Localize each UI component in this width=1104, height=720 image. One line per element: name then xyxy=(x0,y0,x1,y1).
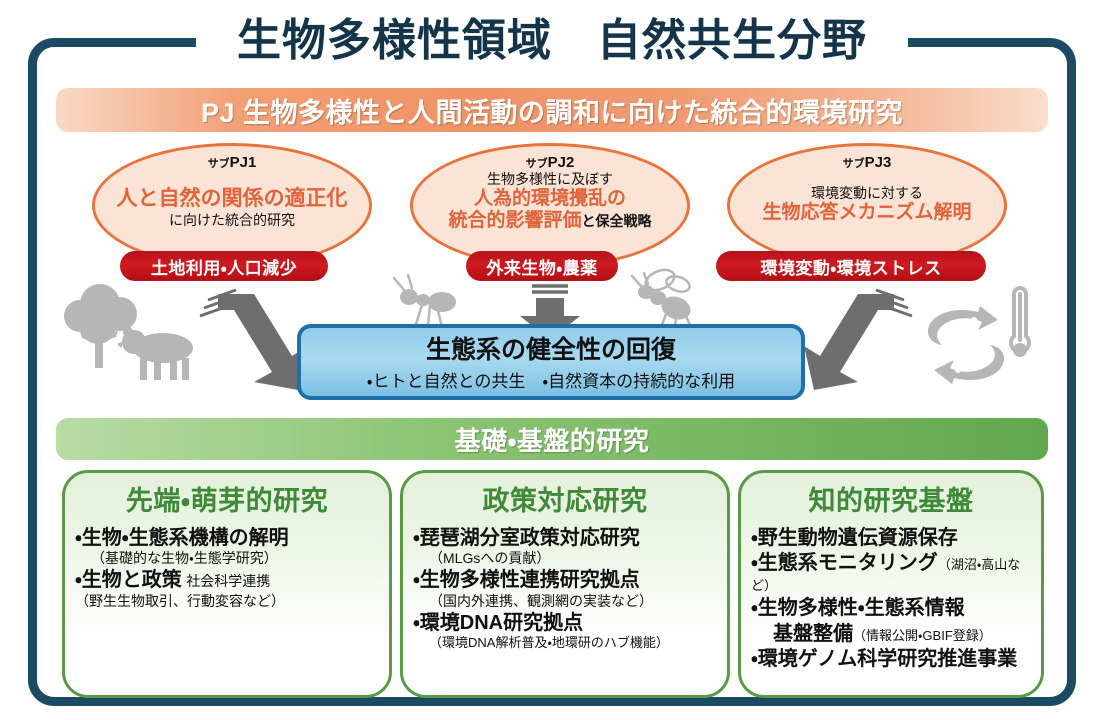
base-box-infra-item-3-tail: （情報公開・GBIF登録） xyxy=(853,628,992,643)
pj-banner-label: PJ 生物多様性と人間活動の調和に向けた統合的環境研究 xyxy=(201,91,903,130)
base-box-advanced-item-1-line: ・生物と政策 社会科学連携 xyxy=(75,568,379,592)
core-outcome-title: 生態系の健全性の回復 xyxy=(301,336,801,365)
subpj-1-tag-prefix: サブ xyxy=(208,158,230,170)
base-box-policy-item-0-note: （MLGsへの貢献） xyxy=(413,550,717,567)
base-box-infra-item-2-lead: ・生物多様性・生態系情報 xyxy=(751,596,1031,620)
subpj-2-keyword-pill: 外来生物・農薬 xyxy=(466,251,618,281)
base-box-infrastructure: 知的研究基盤 ・野生動物遺伝資源保存 ・生態系モニタリング（湖沼・高山など） ・… xyxy=(738,470,1044,698)
list-item: ・生物・生態系機構の解明 （基礎的な生物・生態学研究） xyxy=(75,526,379,567)
list-item: ・琵琶湖分室政策対応研究 （MLGsへの貢献） xyxy=(413,526,717,567)
subpj-2-tag: サブPJ2 xyxy=(413,154,687,171)
subpj-2-ellipse: サブPJ2 生物多様性に及ぼす 人為的環境攪乱の 統合的影響評価と保全戦略 xyxy=(410,143,690,268)
subpj-1-tag: サブPJ1 xyxy=(95,154,369,171)
subpj-1-main: 人と自然の関係の適正化 xyxy=(95,187,369,212)
base-box-advanced-item-1-lead: ・生物と政策 xyxy=(75,569,182,591)
base-box-advanced-item-1-note: （野生生物取引、行動変容など） xyxy=(75,593,379,610)
subpj-2-sub: 生物多様性に及ぼす xyxy=(413,171,687,188)
subpj-2-tag-prefix: サブ xyxy=(526,158,548,170)
diagram-canvas: 生物多様性領域 自然共生分野 PJ 生物多様性と人間活動の調和に向けた統合的環境… xyxy=(0,0,1104,720)
subpj-3-main: 生物応答メカニズム解明 xyxy=(730,202,1004,224)
base-box-policy-item-0-lead: ・琵琶湖分室政策対応研究 xyxy=(413,526,717,550)
base-box-infra-item-0-lead: ・野生動物遺伝資源保存 xyxy=(751,526,1031,550)
subpj-1-keyword-pill: 土地利用・人口減少 xyxy=(120,251,328,281)
base-box-advanced-item-0-lead: ・生物・生態系機構の解明 xyxy=(75,526,379,550)
base-research-banner: 基礎・基盤的研究 xyxy=(56,418,1048,460)
base-box-infra-item-3-lead: 基盤整備 xyxy=(773,623,853,645)
base-box-policy: 政策対応研究 ・琵琶湖分室政策対応研究 （MLGsへの貢献） ・生物多様性連携研… xyxy=(400,470,730,698)
core-outcome-box: 生態系の健全性の回復 ・ヒトと自然との共生 ・自然資本の持続的な利用 xyxy=(297,324,805,400)
subpj-3-ellipse: サブPJ3 環境変動に対する 生物応答メカニズム解明 xyxy=(727,143,1007,268)
subpj-3-keyword-pill: 環境変動・環境ストレス xyxy=(716,251,986,281)
subpj-2-main: 人為的環境攪乱の xyxy=(413,188,687,210)
base-box-policy-item-1-lead: ・生物多様性連携研究拠点 xyxy=(413,568,717,592)
list-item: ・生物と政策 社会科学連携 （野生生物取引、行動変容など） xyxy=(75,568,379,609)
subpj-2-tail: と保全戦略 xyxy=(582,213,652,229)
subpj-1-note: に向けた統合的研究 xyxy=(95,212,369,229)
base-box-policy-item-2-note: （環境DNA解析普及・地環研のハブ機能） xyxy=(413,635,717,651)
base-box-infra-item-1-lead: ・生態系モニタリング xyxy=(751,552,938,574)
list-item: ・生物多様性・生態系情報 xyxy=(751,596,1031,620)
base-box-advanced-title: 先端・萌芽的研究 xyxy=(75,479,379,518)
base-box-infra-item-4-lead: ・環境ゲノム科学研究推進事業 xyxy=(751,647,1031,671)
base-box-infrastructure-title: 知的研究基盤 xyxy=(751,479,1031,518)
subpj-2-tag-number: PJ2 xyxy=(548,154,575,171)
base-research-banner-label: 基礎・基盤的研究 xyxy=(455,421,650,458)
pj-banner: PJ 生物多様性と人間活動の調和に向けた統合的環境研究 xyxy=(56,88,1048,132)
list-item: ・野生動物遺伝資源保存 xyxy=(751,526,1031,550)
thermometer-icon xyxy=(1000,284,1040,374)
base-box-policy-title: 政策対応研究 xyxy=(413,479,717,518)
list-item: ・環境DNA研究拠点 （環境DNA解析普及・地環研のハブ機能） xyxy=(413,611,717,651)
base-box-advanced-item-1-tail: 社会科学連携 xyxy=(186,573,270,589)
subpj-2-main2-line: 統合的影響評価と保全戦略 xyxy=(413,210,687,232)
bear-icon xyxy=(118,326,208,386)
arrow-down-left-icon xyxy=(796,286,916,396)
list-item: 基盤整備（情報公開・GBIF登録） xyxy=(751,622,1031,646)
list-item: ・生物多様性連携研究拠点 （国内外連携、観測網の実装など） xyxy=(413,568,717,609)
subpj-1-ellipse: サブPJ1 人と自然の関係の適正化 に向けた統合的研究 xyxy=(92,143,372,268)
base-box-policy-item-1-note: （国内外連携、観測網の実装など） xyxy=(413,593,717,610)
page-title: 生物多様性領域 自然共生分野 xyxy=(0,4,1104,68)
list-item: ・生態系モニタリング（湖沼・高山など） xyxy=(751,551,1031,595)
subpj-2-main2: 統合的影響評価 xyxy=(448,210,581,231)
base-box-policy-item-2-lead: ・環境DNA研究拠点 xyxy=(413,611,717,635)
base-box-advanced-item-0-note: （基礎的な生物・生態学研究） xyxy=(75,550,379,567)
subpj-3-sub: 環境変動に対する xyxy=(730,185,1004,202)
subpj-1-tag-number: PJ1 xyxy=(230,154,257,171)
base-box-advanced: 先端・萌芽的研究 ・生物・生態系機構の解明 （基礎的な生物・生態学研究） ・生物… xyxy=(62,470,392,698)
subpj-3-tag-number: PJ3 xyxy=(865,154,892,171)
core-outcome-subtitle: ・ヒトと自然との共生 ・自然資本の持続的な利用 xyxy=(301,367,801,392)
list-item: ・環境ゲノム科学研究推進事業 xyxy=(751,647,1031,671)
subpj-3-tag-prefix: サブ xyxy=(843,158,865,170)
subpj-3-tag: サブPJ3 xyxy=(730,154,1004,171)
